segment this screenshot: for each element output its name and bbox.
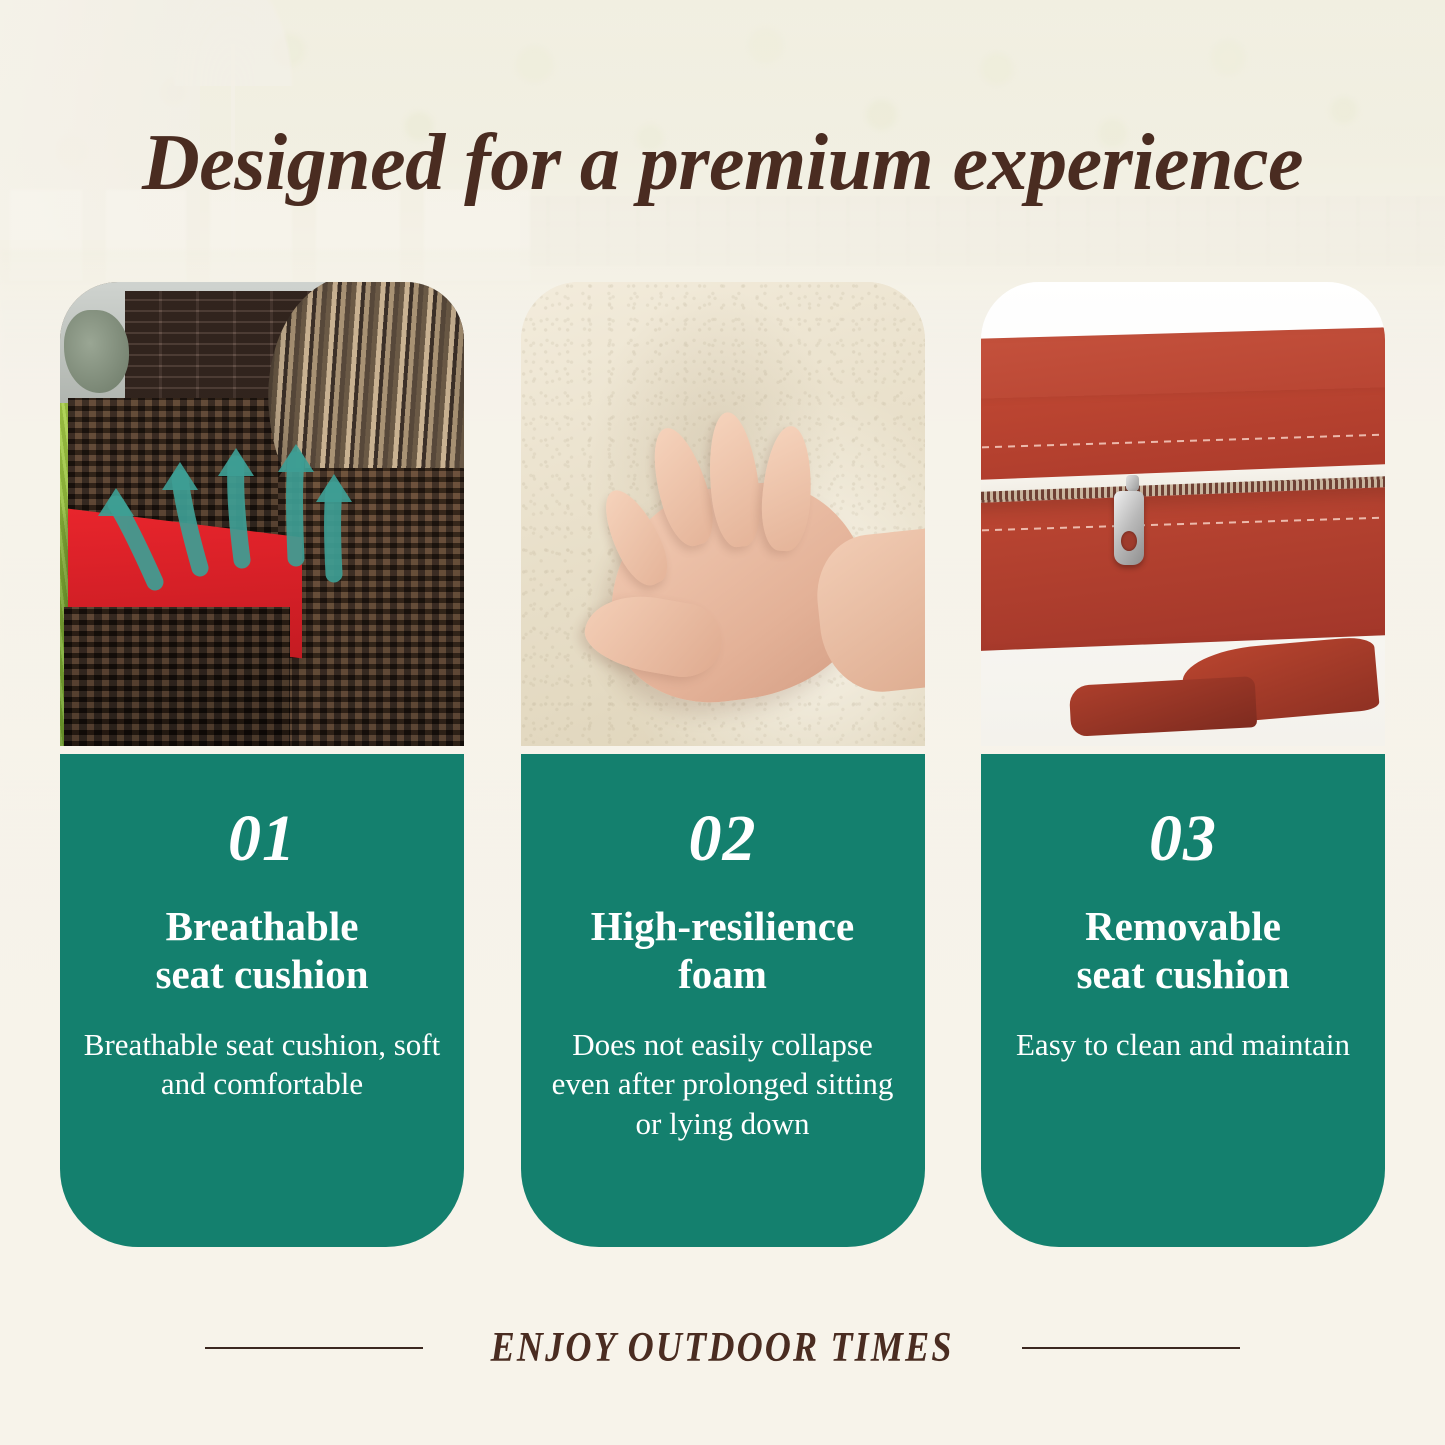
infographic-page: Designed for a premium experience xyxy=(0,0,1445,1445)
feature-number-02: 02 xyxy=(543,806,903,872)
feature-card-body-02: 02 High-resilience foam Does not easily … xyxy=(521,754,925,1247)
photo3-zipper-slider xyxy=(1126,475,1139,491)
photo3-fabric-strap xyxy=(1069,676,1257,737)
footer-rule-right xyxy=(1022,1347,1240,1349)
feature-card-body-03: 03 Removable seat cushion Easy to clean … xyxy=(981,754,1385,1247)
feature-card-03: 03 Removable seat cushion Easy to clean … xyxy=(981,282,1385,1247)
feature-columns: 01 Breathable seat cushion Breathable se… xyxy=(60,282,1385,1247)
feature-title-02: High-resilience foam xyxy=(543,902,903,999)
footer-tagline: ENJOY OUTDOOR TIMES xyxy=(0,1312,1445,1384)
feature-title-03-line2: seat cushion xyxy=(1003,950,1363,998)
page-title: Designed for a premium experience xyxy=(0,118,1445,209)
feature-card-02: 02 High-resilience foam Does not easily … xyxy=(521,282,925,1247)
airflow-arrows-icon xyxy=(60,282,464,746)
feature-title-03: Removable seat cushion xyxy=(1003,902,1363,999)
footer-rule-left xyxy=(205,1347,423,1349)
feature-title-01-line2: seat cushion xyxy=(82,950,442,998)
breathable-cushion-photo xyxy=(60,282,464,746)
feature-description-03: Easy to clean and maintain xyxy=(1003,1025,1363,1065)
feature-number-03: 03 xyxy=(1003,806,1363,872)
feature-title-01-line1: Breathable xyxy=(82,902,442,950)
feature-title-01: Breathable seat cushion xyxy=(82,902,442,999)
feature-title-02-line2: foam xyxy=(543,950,903,998)
photo3-cushion-lower xyxy=(981,487,1385,652)
high-resilience-foam-photo xyxy=(521,282,925,746)
feature-title-03-line1: Removable xyxy=(1003,902,1363,950)
feature-description-02: Does not easily collapse even after prol… xyxy=(543,1025,903,1144)
feature-card-01: 01 Breathable seat cushion Breathable se… xyxy=(60,282,464,1247)
removable-cushion-photo xyxy=(981,282,1385,746)
photo3-zipper-pull-icon xyxy=(1114,491,1144,565)
feature-number-01: 01 xyxy=(82,806,442,872)
footer-text: ENJOY OUTDOOR TIMES xyxy=(491,1324,954,1372)
feature-description-01: Breathable seat cushion, soft and comfor… xyxy=(82,1025,442,1104)
feature-card-body-01: 01 Breathable seat cushion Breathable se… xyxy=(60,754,464,1247)
feature-title-02-line1: High-resilience xyxy=(543,902,903,950)
